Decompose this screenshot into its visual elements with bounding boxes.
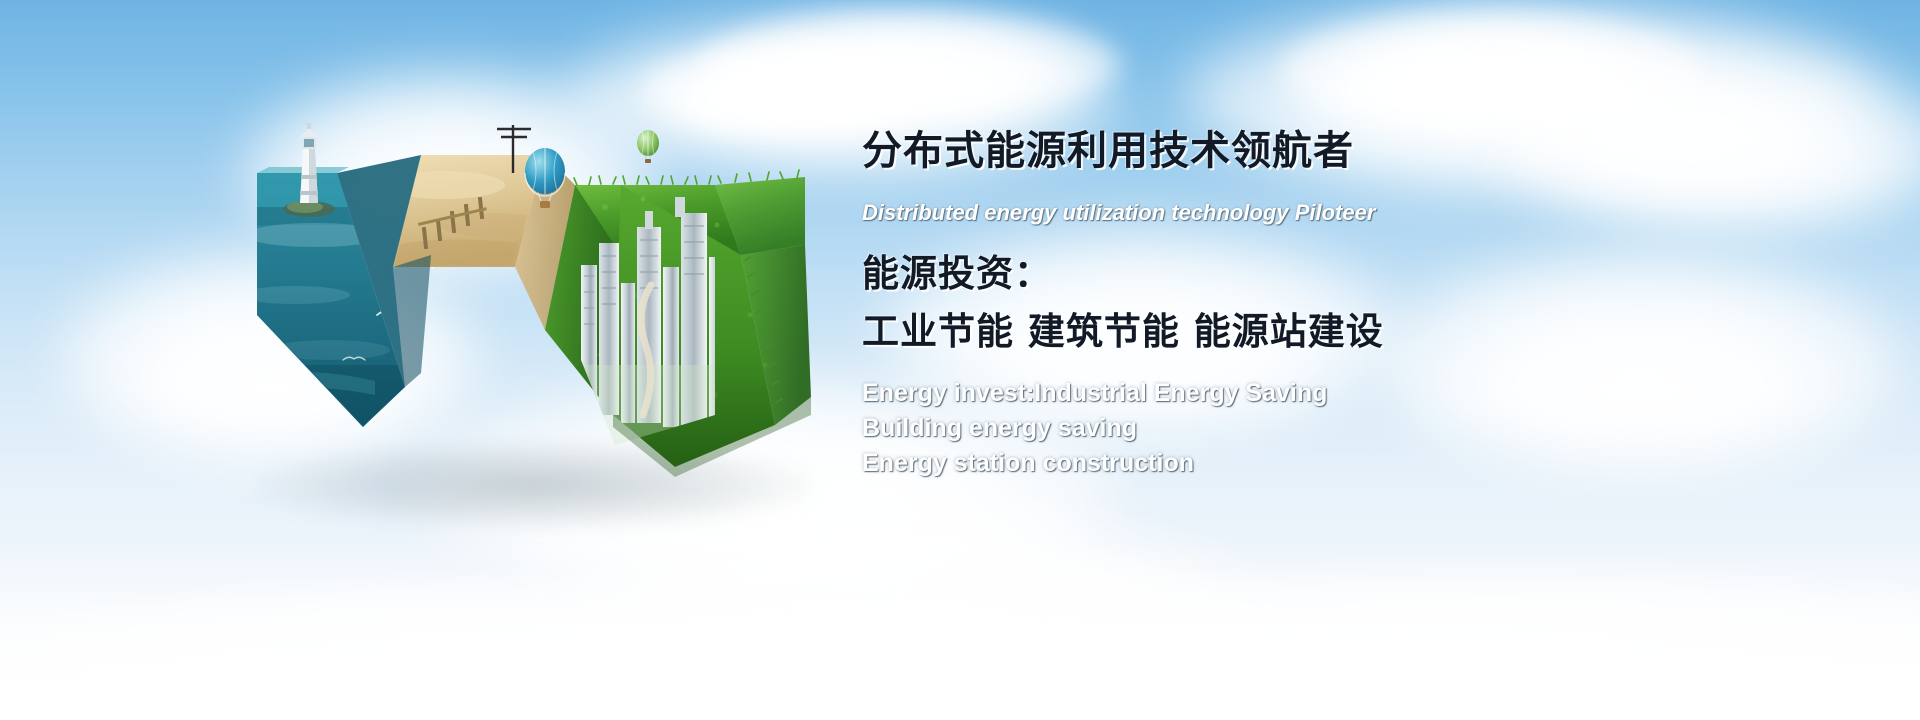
hero-banner: 分布式能源利用技术领航者 Distributed energy utilizat… (0, 0, 1920, 720)
cloud-icon (1280, 10, 1700, 130)
services-english-line-1: Energy invest:Industrial Energy Saving (862, 376, 1882, 411)
headline-english: Distributed energy utilization technolog… (862, 200, 1882, 226)
headline-chinese: 分布式能源利用技术领航者 (862, 128, 1882, 174)
hot-air-balloon-small (637, 130, 659, 163)
services-english-block: Energy invest:Industrial Energy Saving B… (862, 376, 1882, 481)
bottom-white-fade (0, 540, 1920, 720)
cloud-icon (700, 8, 1120, 118)
services-english-line-2: Building energy saving (862, 411, 1882, 446)
w-letter-3d-illustration (245, 115, 835, 480)
banner-text-block: 分布式能源利用技术领航者 Distributed energy utilizat… (862, 128, 1882, 481)
services-chinese: 工业节能 建筑节能 能源站建设 (862, 310, 1882, 354)
services-english-line-3: Energy station construction (862, 446, 1882, 481)
invest-label-chinese: 能源投资： (862, 252, 1882, 296)
